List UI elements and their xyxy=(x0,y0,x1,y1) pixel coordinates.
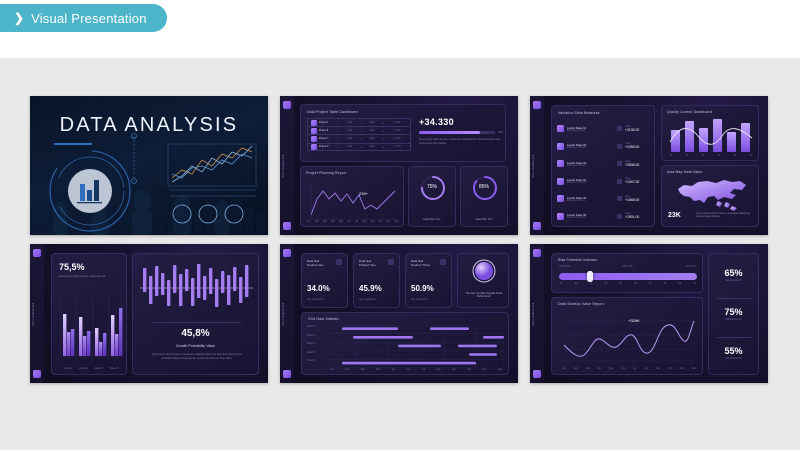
month-tick: Mar xyxy=(323,221,327,223)
slide-thumbnail-5[interactable]: Data Dashboard Data Sell Product One 34.… xyxy=(280,244,518,383)
grid-statistic-card: Grid Data Statistic Data 05 Data 04 Data… xyxy=(301,312,509,375)
risk-scale-mid: MID RISK xyxy=(623,266,633,268)
quality-tick: 03 xyxy=(702,155,705,157)
grid-y-label: Data 05 xyxy=(307,326,327,335)
group-tick: Value 02 xyxy=(79,368,88,370)
kpi-progress-fill xyxy=(419,131,480,134)
product-subtitle-2: Product Two xyxy=(359,263,376,267)
item-value: +1090.00 xyxy=(625,145,649,149)
month-tick: Sep xyxy=(371,221,375,223)
donut-card-1: 75% Data Plan One xyxy=(408,166,456,227)
report-value-1: 65% xyxy=(709,268,758,278)
rail-square-icon-top xyxy=(33,249,41,257)
item-action-icon[interactable] xyxy=(617,179,622,184)
product-value-2: 45.9% xyxy=(359,284,382,293)
month-tick: Jan xyxy=(307,221,311,223)
rail-label: Data Dashboard xyxy=(532,154,535,177)
donut-value-1: 75% xyxy=(409,184,455,190)
month-tick: Oct xyxy=(379,221,383,223)
left-value: 75,5% xyxy=(59,262,85,272)
grid-y-axis: Data 05 Data 04 Data 03 Data 02 Data 01 xyxy=(307,326,327,369)
slide-stage: Data Project Table Dashboard Project A D… xyxy=(294,96,518,235)
grouped-bar-chart xyxy=(58,288,124,366)
list-item[interactable]: Liquid Data 04 Ethereum Product Value +1… xyxy=(557,173,649,191)
grid-y-label: Data 03 xyxy=(307,343,327,352)
candlestick-chart xyxy=(140,262,253,314)
quality-tick-row: 01 02 03 04 05 06 xyxy=(670,155,752,157)
slide-rail: Data Dashboard xyxy=(280,244,294,383)
grid-y-label: Data 01 xyxy=(307,360,327,369)
group-tick: Value 01 xyxy=(63,368,72,370)
risk-slider-track[interactable] xyxy=(559,273,697,280)
grid-title: Grid Data Statistic xyxy=(308,317,339,321)
product-card-1: Data Sell Product One 34.0% Avg. Complet… xyxy=(301,253,348,308)
quality-control-card: Quality Control Dashboard 01 02 xyxy=(661,105,759,161)
value-reports-card: 65% Value Report 01 75% Value Report 02 … xyxy=(708,253,759,375)
risk-tick: 05 xyxy=(619,283,622,285)
row-cell-3: +1.90% xyxy=(383,122,410,124)
item-action-icon[interactable] xyxy=(617,161,622,166)
growth-right-card: 45,8% Growth Probability Value Lorem ips… xyxy=(132,253,259,375)
risk-slider-handle[interactable] xyxy=(587,271,593,283)
line-month: Nov xyxy=(680,368,684,370)
right-label: Growth Probability Value xyxy=(133,344,258,348)
line-month: Jul xyxy=(633,368,636,370)
item-sub: Ethereum Product xyxy=(567,130,617,132)
rail-square-icon-bottom xyxy=(533,370,541,378)
item-check-icon xyxy=(557,178,564,185)
product-card-2: Data Sell Product Two 45.9% Avg. Complet… xyxy=(353,253,400,308)
visual-presentation-badge[interactable]: ❯ Visual Presentation xyxy=(0,4,167,32)
risk-scale-low: LOW RISK xyxy=(559,266,570,268)
item-value: +2901.00 xyxy=(625,215,649,219)
month-tick: Aug xyxy=(362,221,366,223)
line-callout: +329K xyxy=(628,318,640,323)
row-check-icon xyxy=(311,136,317,142)
planning-report-card: Project Planning Report 239+ Jan Feb Mar… xyxy=(300,166,404,227)
grid-y-label: Data 04 xyxy=(307,335,327,344)
item-sub: Ethereum Product xyxy=(567,200,617,202)
slides-canvas: DATA ANALYSIS Dat xyxy=(0,58,800,450)
slide-rail: Data Dashboard xyxy=(280,96,294,235)
top-bar: ❯ Visual Presentation xyxy=(0,0,800,58)
rail-label: Data Dashboard xyxy=(282,302,285,325)
product-caption-3: Avg. Completed xyxy=(411,299,427,301)
quality-tick: 06 xyxy=(749,155,752,157)
list-item[interactable]: Liquid Data 02 Ethereum Product Value +1… xyxy=(557,138,649,156)
report-label-1: Value Report 01 xyxy=(709,280,758,282)
row-cell-3: +1.74% xyxy=(383,146,410,148)
item-check-icon xyxy=(557,160,564,167)
row-cell-2: Value xyxy=(361,130,383,132)
map-value: 23K xyxy=(668,212,681,219)
risk-tick-row: 01 02 03 04 05 06 07 08 09 10 xyxy=(560,283,696,285)
row-cell-2: Value xyxy=(361,122,383,124)
item-check-icon xyxy=(557,195,564,202)
product-menu-icon-1[interactable] xyxy=(336,259,342,265)
rail-square-icon-top xyxy=(283,101,291,109)
row-check-icon xyxy=(311,144,317,150)
row-check-icon xyxy=(311,120,317,126)
grid-month: Feb xyxy=(345,369,349,371)
valuation-list: Liquid Data 01 Ethereum Product Value +2… xyxy=(557,120,649,225)
growth-left-card: 75,5% Lorem ipsum dolor sit amet, consec… xyxy=(51,253,127,375)
month-tick: Feb xyxy=(315,221,319,223)
table-row[interactable]: Project D Data Value +1.74% xyxy=(307,143,411,151)
item-value: +2506.00 xyxy=(625,163,649,167)
line-month: Aug xyxy=(644,368,648,370)
row-cell-2: Value xyxy=(361,138,383,140)
row-check-icon xyxy=(311,128,317,134)
left-description: Lorem ipsum dolor sit amet, consectetur … xyxy=(59,275,119,279)
row-cell-3: +1.00% xyxy=(383,130,410,132)
valuation-title: Valuation Data Networks xyxy=(558,111,600,115)
risk-scale-labels: LOW RISK MID RISK HIGH RISK xyxy=(559,266,697,268)
rail-label: Data Dashboard xyxy=(282,154,285,177)
grid-month: Jan xyxy=(330,369,334,371)
table-row[interactable]: Project A Data Value +1.90% xyxy=(307,118,411,126)
item-action-icon[interactable] xyxy=(617,144,622,149)
rail-square-icon-bottom xyxy=(283,370,291,378)
slide-stage: Risk Potential Indicator LOW RISK MID RI… xyxy=(544,244,768,383)
planning-line-chart xyxy=(305,179,401,221)
grid-month: Jun xyxy=(407,369,411,371)
slide-thumbnail-6[interactable]: Data Dashboard Risk Potential Indicator … xyxy=(530,244,768,383)
list-item[interactable]: Liquid Data 05 Ethereum Product Value +1… xyxy=(557,190,649,208)
slide-thumbnail-1[interactable]: DATA ANALYSIS xyxy=(30,96,268,235)
quote-text: "We Give You Best Upgrade Boost Performa… xyxy=(463,292,505,299)
risk-indicator-card: Risk Potential Indicator LOW RISK MID RI… xyxy=(551,253,703,293)
item-check-icon xyxy=(557,143,564,150)
grid-month: Mar xyxy=(361,369,365,371)
item-value: +1347.00 xyxy=(625,180,649,184)
right-value: 45,8% xyxy=(133,328,258,339)
line-month: Dec xyxy=(692,368,696,370)
planning-title: Project Planning Report xyxy=(306,171,346,175)
list-item[interactable]: Liquid Data 03 Ethereum Product Value +2… xyxy=(557,155,649,173)
item-action-icon[interactable] xyxy=(617,214,622,219)
gantt-chart xyxy=(328,325,504,369)
asia-map-icon xyxy=(674,177,750,213)
grid-month: Nov xyxy=(482,369,486,371)
row-cell-1: Data xyxy=(337,122,361,124)
slide-rail: Data Dashboard xyxy=(530,244,544,383)
row-cell-1: Data xyxy=(337,130,361,132)
risk-tick: 04 xyxy=(604,283,607,285)
line-month: Apr xyxy=(598,368,602,370)
risk-tick: 10 xyxy=(693,283,696,285)
orb-icon xyxy=(472,259,496,283)
item-sub: Ethereum Product xyxy=(567,217,617,219)
donut-label-2: Data Plan Two xyxy=(461,218,507,221)
month-tick: May xyxy=(339,221,343,223)
risk-tick: 01 xyxy=(560,283,563,285)
project-table-card: Data Project Table Dashboard Project A D… xyxy=(300,104,506,162)
risk-tick: 03 xyxy=(590,283,593,285)
quality-bar-chart xyxy=(668,118,754,152)
kpi-progress-track xyxy=(419,131,495,134)
item-sub: Ethereum Product xyxy=(567,182,617,184)
line-month-axis: Jan Feb Mar Apr May Jun Jul Aug Sep Oct … xyxy=(562,368,696,370)
report-value-2: 75% xyxy=(709,307,758,317)
row-name: Project D xyxy=(319,146,328,148)
valuation-list-card: Valuation Data Networks Liquid Data 01 E… xyxy=(551,105,655,227)
slide-grid: DATA ANALYSIS Dat xyxy=(30,96,770,383)
kpi-description: Lorem ipsum dolor sit amet, consectetur … xyxy=(419,138,503,145)
item-check-icon xyxy=(557,213,564,220)
row-name: Project B xyxy=(319,130,328,132)
report-block-2: 75% Value Report 02 xyxy=(709,307,758,321)
rail-square-icon-top xyxy=(533,249,541,257)
grid-month: May xyxy=(376,369,380,371)
rail-square-icon-bottom xyxy=(533,222,541,230)
rail-label: Data Dashboard xyxy=(532,302,535,325)
table-row[interactable]: Project B Data Value +1.00% xyxy=(307,126,411,134)
table-row[interactable]: Project C Data Value +1.19% xyxy=(307,134,411,142)
value-report-chart-card: Data Statistic Value Report +329K Jan Fe… xyxy=(551,297,703,375)
grid-month: Oct xyxy=(467,369,471,371)
group-tick: Value 04 xyxy=(110,368,119,370)
item-sub: Ethereum Product xyxy=(567,165,617,167)
list-item[interactable]: Liquid Data 06 Ethereum Product Value +2… xyxy=(557,208,649,226)
month-tick: Jul xyxy=(355,221,358,223)
table-title: Data Project Table Dashboard xyxy=(307,110,358,114)
line-month: Jan xyxy=(562,368,566,370)
row-cell-1: Data xyxy=(337,146,361,148)
list-item[interactable]: Liquid Data 01 Ethereum Product Value +2… xyxy=(557,120,649,138)
row-name: Project A xyxy=(319,122,328,124)
risk-tick: 09 xyxy=(679,283,682,285)
planning-month-axis: Jan Feb Mar Apr May Jun Jul Aug Sep Oct … xyxy=(307,221,399,223)
line-month: Jun xyxy=(621,368,625,370)
line-month: Feb xyxy=(574,368,578,370)
slide-stage: Data Sell Product One 34.0% Avg. Complet… xyxy=(294,244,518,383)
risk-tick: 02 xyxy=(575,283,578,285)
slide-rail: Data Dashboard xyxy=(30,244,44,383)
asia-map-card: Asia Map Data Value 23K Lorem ipsum dolo… xyxy=(661,165,759,227)
planning-callout: 239+ xyxy=(359,191,368,196)
risk-title: Risk Potential Indicator xyxy=(558,258,597,262)
map-description: Lorem ipsum dolor sit amet, consectetur … xyxy=(696,212,754,219)
item-check-icon xyxy=(557,125,564,132)
row-cell-2: Value xyxy=(361,146,383,148)
grid-month: Apr xyxy=(392,369,396,371)
product-menu-icon-2[interactable] xyxy=(388,259,394,265)
row-name: Project C xyxy=(319,138,328,140)
quote-card: "We Give You Best Upgrade Boost Performa… xyxy=(457,253,509,308)
chevron-right-icon: ❯ xyxy=(14,12,24,24)
slide-stage: 75,5% Lorem ipsum dolor sit amet, consec… xyxy=(44,244,268,383)
slide-rail: Data Dashboard xyxy=(530,96,544,235)
product-subtitle-1: Product One xyxy=(307,263,324,267)
right-description: Lorem ipsum dolor sit amet, consectetur … xyxy=(147,353,247,360)
report-label-2: Value Report 02 xyxy=(709,319,758,321)
slide-thumbnail-3[interactable]: Data Dashboard Valuation Data Networks L… xyxy=(530,96,768,235)
month-tick: Apr xyxy=(331,221,335,223)
row-cell-1: Data xyxy=(337,138,361,140)
item-action-icon[interactable] xyxy=(617,196,622,201)
kpi-value: +34.330 xyxy=(419,117,503,127)
rail-square-icon-bottom xyxy=(283,222,291,230)
donut-value-2: 85% xyxy=(461,184,507,190)
report-block-1: 65% Value Report 01 xyxy=(709,268,758,282)
risk-scale-high: HIGH RISK xyxy=(685,266,697,268)
item-sub: Ethereum Product xyxy=(567,147,617,149)
line-month: Oct xyxy=(668,368,672,370)
product-value-1: 34.0% xyxy=(307,284,330,293)
grid-month: Dec xyxy=(498,369,502,371)
report-value-3: 55% xyxy=(709,346,758,356)
slide-stage: Valuation Data Networks Liquid Data 01 E… xyxy=(544,96,768,235)
month-tick: Jun xyxy=(347,221,351,223)
item-action-icon[interactable] xyxy=(617,126,622,131)
report-block-3: 55% Value Report 03 xyxy=(709,346,758,360)
month-tick: Dec xyxy=(395,221,399,223)
quality-tick: 01 xyxy=(670,155,673,157)
month-tick: Nov xyxy=(387,221,391,223)
group-tick: Value 03 xyxy=(94,368,103,370)
risk-tick: 08 xyxy=(664,283,667,285)
item-value: +1565.00 xyxy=(625,198,649,202)
product-card-3: Data Sell Product Three 50.9% Avg. Compl… xyxy=(405,253,452,308)
line-month: Mar xyxy=(586,368,590,370)
quality-tick: 02 xyxy=(686,155,689,157)
rail-square-icon-bottom xyxy=(33,370,41,378)
row-cell-3: +1.19% xyxy=(383,138,410,140)
kpi-progress-label: 80% xyxy=(498,132,503,134)
report-label-3: Value Report 03 xyxy=(709,358,758,360)
product-subtitle-3: Product Three xyxy=(411,263,430,267)
line-title: Data Statistic Value Report xyxy=(558,302,604,306)
line-month: May xyxy=(609,368,613,370)
product-value-3: 50.9% xyxy=(411,284,434,293)
rail-label: Data Dashboard xyxy=(32,302,35,325)
product-menu-icon-3[interactable] xyxy=(440,259,446,265)
slide-thumbnail-2[interactable]: Data Dashboard Data Project Table Dashbo… xyxy=(280,96,518,235)
quality-title: Quality Control Dashboard xyxy=(667,110,712,114)
grid-month-axis: Jan Feb Mar May Apr Jun Jul Aug Sep Oct … xyxy=(330,369,502,371)
product-caption-1: Avg. Completed xyxy=(307,299,323,301)
quality-tick: 05 xyxy=(734,155,737,157)
risk-tick: 06 xyxy=(634,283,637,285)
rail-square-icon-top xyxy=(283,249,291,257)
item-value: +2130.00 xyxy=(625,128,649,132)
donut-card-2: 85% Data Plan Two xyxy=(460,166,508,227)
title-graphics xyxy=(30,96,268,235)
rail-square-icon-top xyxy=(533,101,541,109)
grid-month: Sep xyxy=(452,369,456,371)
line-month: Sep xyxy=(656,368,660,370)
slide-thumbnail-4[interactable]: Data Dashboard 75,5% Lorem ipsum dolor s… xyxy=(30,244,268,383)
donut-label-1: Data Plan One xyxy=(409,218,455,221)
group-axis: Value 01 Value 02 Value 03 Value 04 xyxy=(60,368,122,370)
risk-tick: 07 xyxy=(649,283,652,285)
grid-month: Jul xyxy=(422,369,425,371)
badge-label: Visual Presentation xyxy=(31,11,147,26)
product-caption-2: Avg. Completed xyxy=(359,299,375,301)
quality-tick: 04 xyxy=(718,155,721,157)
grid-month: Aug xyxy=(436,369,440,371)
map-title: Asia Map Data Value xyxy=(667,170,702,174)
